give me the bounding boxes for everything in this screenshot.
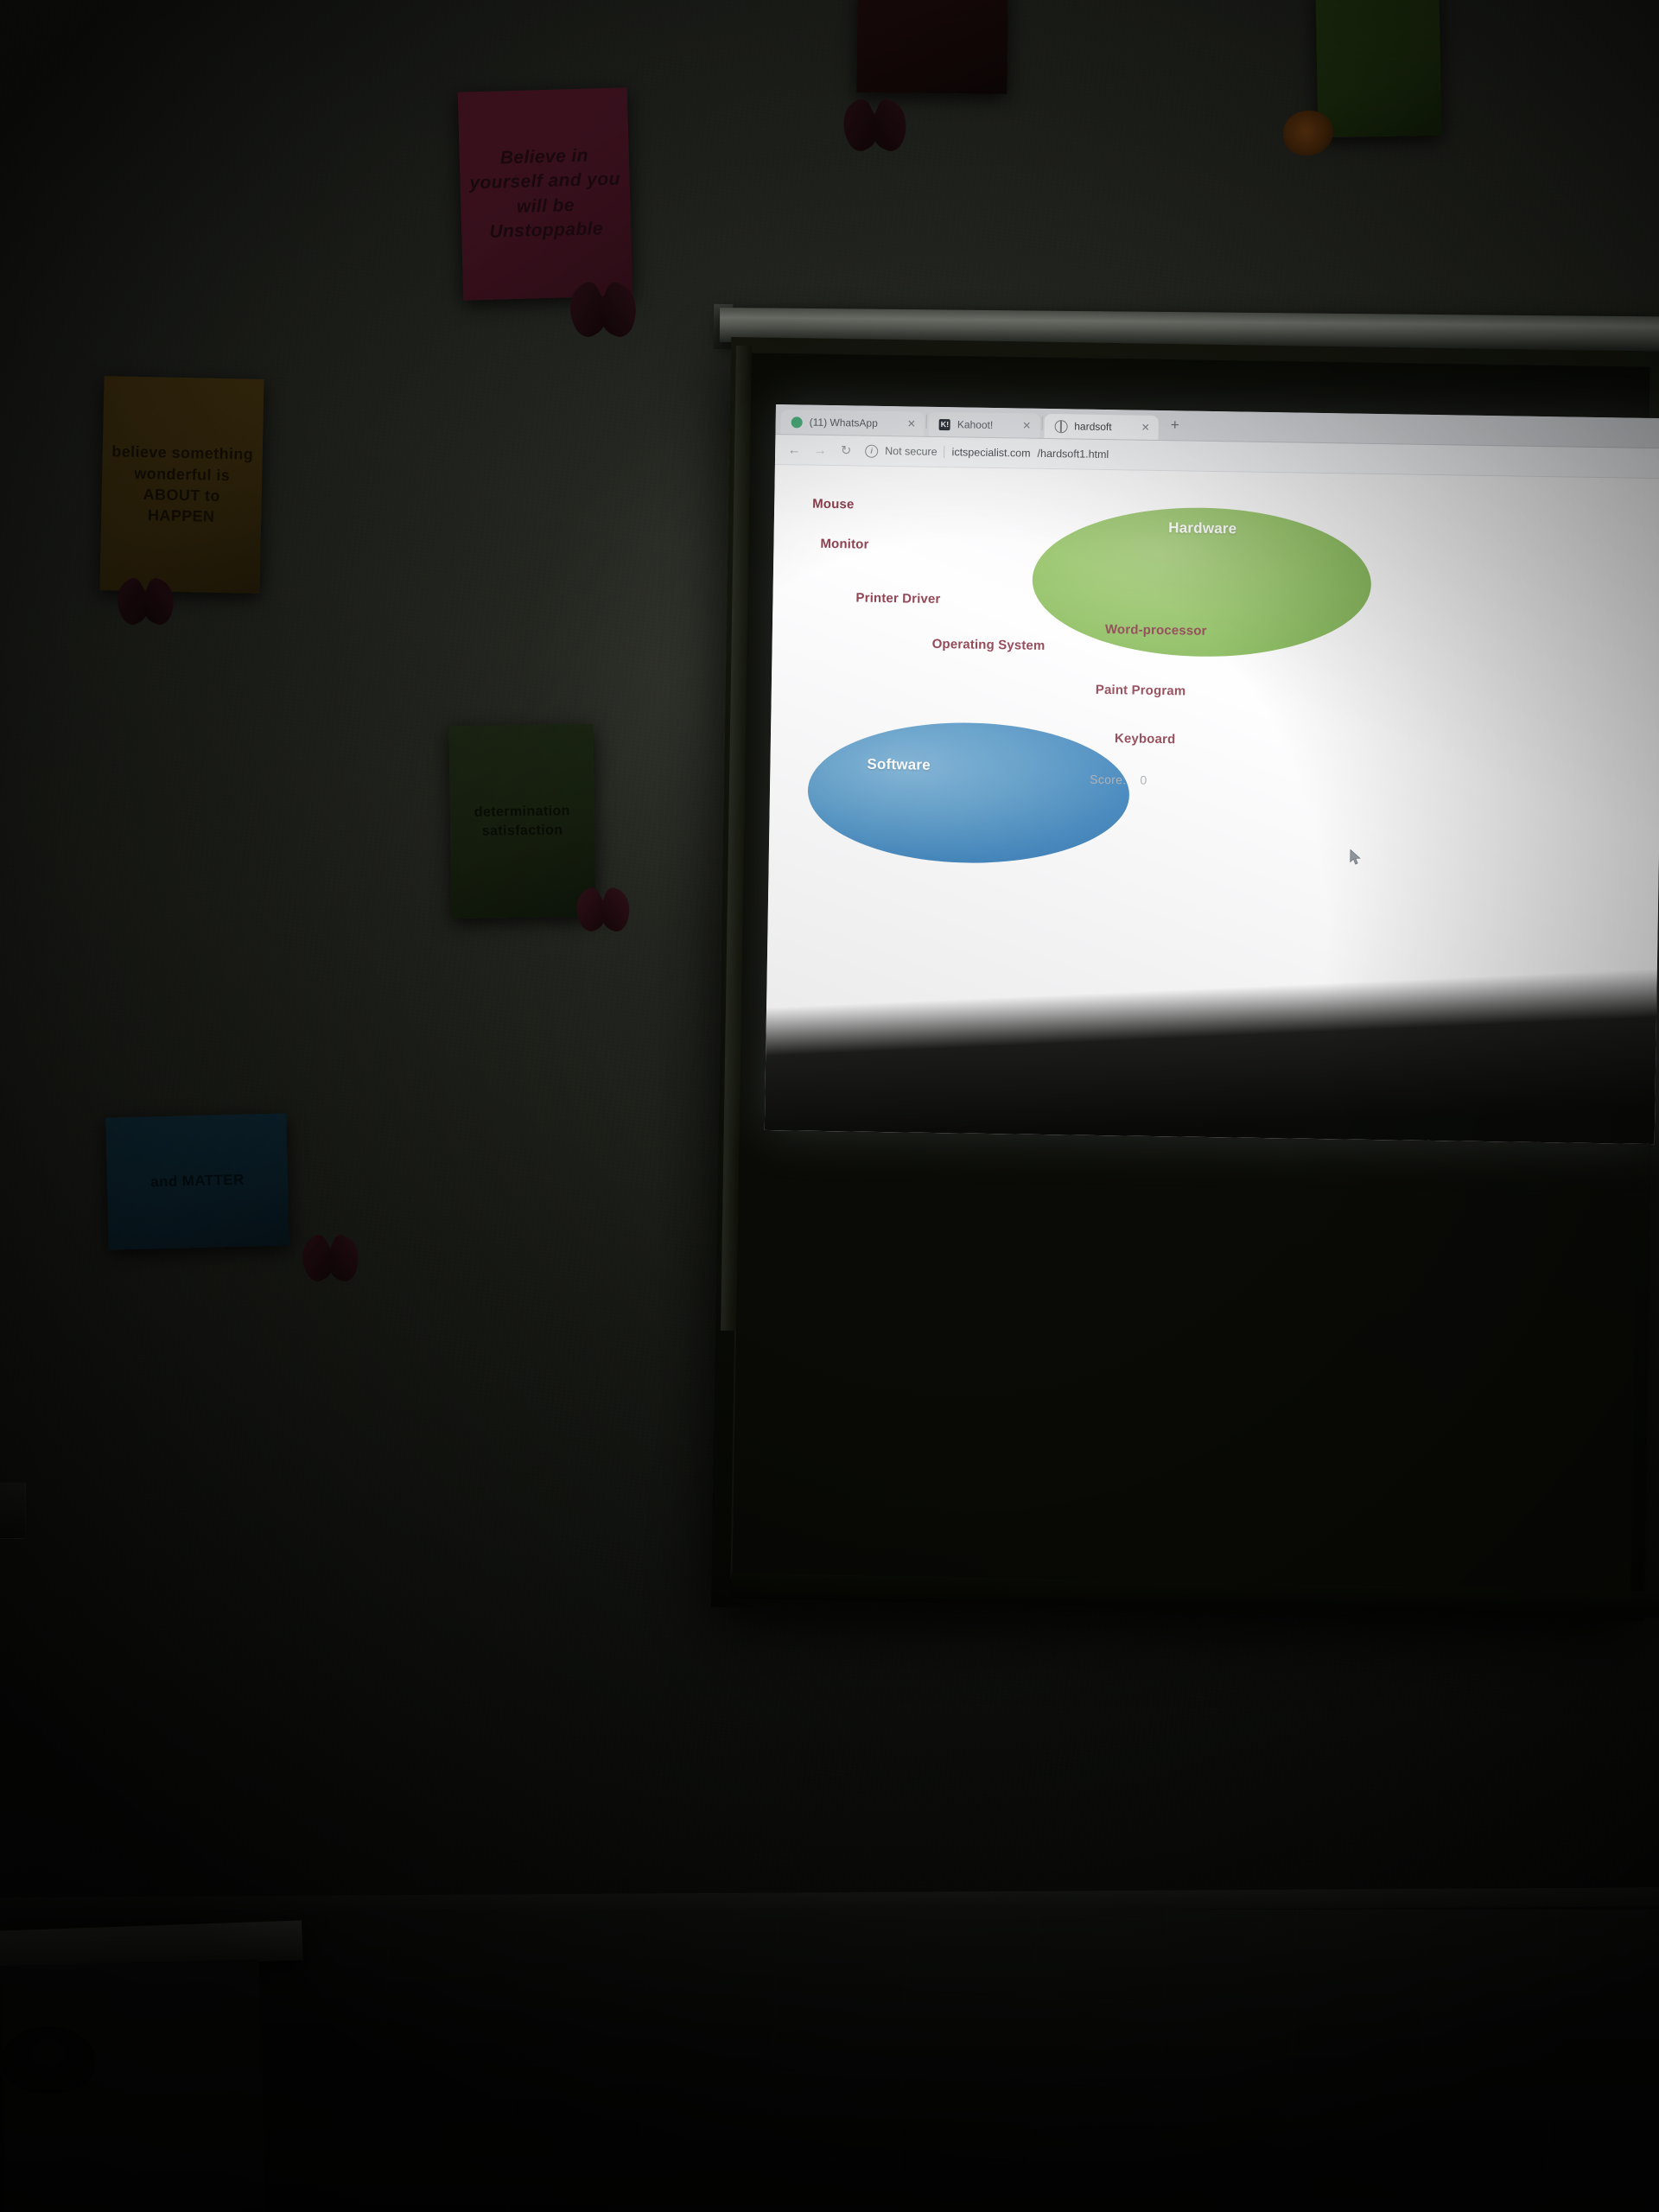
poster-dark-middle: determination satisfaction [448, 724, 595, 918]
poster-text: believe something wonderful is ABOUT to … [110, 442, 254, 529]
drag-item-paint-program[interactable]: Paint Program [1096, 683, 1186, 699]
poster-blue-left: and MATTER [105, 1113, 289, 1249]
url-host: ictspecialist.com [952, 446, 1031, 459]
security-status: Not secure [885, 445, 938, 458]
mouse-pointer-icon [1350, 849, 1362, 865]
poster-text: Believe in yourself and you will be Unst… [467, 143, 622, 245]
tab-title: hardsoft [1074, 420, 1112, 433]
score-display: Score:0 [1090, 772, 1147, 787]
poster-dark-top-center [856, 0, 1007, 94]
tab-separator [926, 415, 927, 429]
forward-icon[interactable]: → [813, 442, 827, 457]
drag-item-printer-driver[interactable]: Printer Driver [855, 590, 940, 607]
tab-close-icon[interactable]: ✕ [1000, 419, 1031, 432]
tab-whatsapp[interactable]: (11) WhatsApp ✕ [780, 410, 925, 436]
tab-separator [1041, 416, 1042, 430]
tab-kahoot[interactable]: K! Kahoot! ✕ [929, 412, 1040, 438]
tab-title: (11) WhatsApp [810, 416, 878, 429]
score-value: 0 [1140, 773, 1147, 787]
drag-item-keyboard[interactable]: Keyboard [1115, 731, 1176, 747]
poster-believe-in-yourself: Believe in yourself and you will be Unst… [458, 87, 633, 300]
drag-item-monitor[interactable]: Monitor [820, 537, 868, 552]
software-ellipse[interactable]: Software [807, 721, 1130, 866]
wall-socket [0, 1482, 26, 1539]
score-label: Score: [1090, 772, 1127, 787]
url-path: /hardsoft1.html [1037, 448, 1109, 461]
poster-text: and MATTER [150, 1171, 245, 1193]
software-label: Software [867, 756, 931, 774]
classroom-scene: Believe in yourself and you will be Unst… [0, 0, 1659, 2212]
poster-something-wonderful: believe something wonderful is ABOUT to … [99, 376, 264, 594]
table-object [2, 2026, 95, 2094]
omnibox-divider [944, 446, 945, 458]
drag-item-operating-system[interactable]: Operating System [932, 637, 1046, 653]
drag-item-word-processor[interactable]: Word-processor [1105, 622, 1207, 639]
address-bar[interactable]: i Not secure ictspecialist.com/hardsoft1… [865, 444, 1653, 469]
globe-icon [1054, 420, 1067, 433]
hardsoft-activity-page: Hardware Software Mouse Monitor Printer … [765, 465, 1659, 1144]
back-icon[interactable]: ← [787, 442, 801, 457]
tab-title: Kahoot! [957, 418, 994, 431]
tab-close-icon[interactable]: ✕ [1119, 421, 1150, 434]
tab-hardsoft[interactable]: hardsoft ✕ [1044, 414, 1159, 440]
info-circle-icon[interactable]: i [865, 444, 878, 457]
poster-text: determination satisfaction [459, 802, 587, 841]
new-tab-button[interactable]: + [1164, 414, 1186, 436]
kahoot-icon: K! [939, 418, 950, 429]
whatsapp-icon [791, 416, 803, 428]
hardware-label: Hardware [1168, 519, 1236, 537]
projected-browser-window: (11) WhatsApp ✕ K! Kahoot! ✕ hardsoft ✕ … [765, 404, 1659, 1144]
drag-item-mouse[interactable]: Mouse [812, 497, 855, 512]
tab-close-icon[interactable]: ✕ [885, 417, 916, 430]
reload-icon[interactable]: ↻ [839, 442, 853, 458]
poster-green-top-right [1316, 0, 1442, 137]
